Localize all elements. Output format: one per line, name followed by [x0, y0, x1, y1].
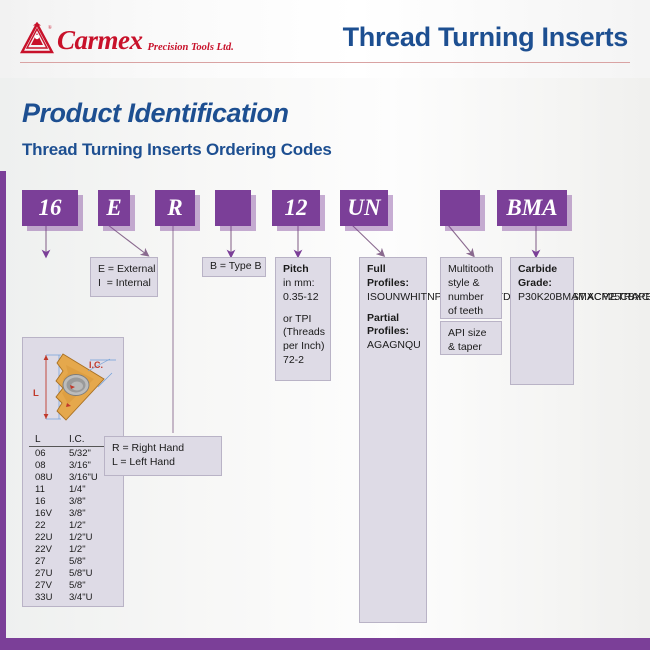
cell-ic: 1/4" — [67, 483, 121, 495]
dimension-label-ic: I.C. — [89, 360, 103, 370]
callout-insert-type: B = Type B — [202, 257, 266, 277]
page-header: ® Carmex Precision Tools Ltd. Thread Tur… — [0, 0, 650, 78]
left-hand-line: L = Left Hand — [112, 456, 214, 470]
code-box-label: R — [167, 195, 182, 221]
external-line: E = External — [98, 263, 150, 277]
cell-ic: 1/2"U — [67, 531, 121, 543]
carbide-grade-item: BXC — [628, 291, 650, 303]
code-box-label: E — [106, 195, 121, 221]
bottom-accent-bar — [0, 638, 650, 650]
cell-l: 08 — [29, 459, 67, 471]
cell-ic: 5/8" — [67, 579, 121, 591]
code-box-label: 12 — [285, 195, 308, 221]
cell-l: 33U — [29, 591, 67, 603]
cell-l: 22V — [29, 543, 67, 555]
carbide-grade-list: P30K20BMAMXCP25CBXCBLUHBA — [518, 291, 566, 305]
pitch-title: Pitch — [283, 263, 323, 277]
spacer — [367, 305, 419, 312]
code-box-4[interactable] — [215, 190, 251, 226]
content-panel: Product Identification Thread Turning In… — [0, 78, 650, 638]
carmex-triangle-logo-icon: ® — [20, 22, 54, 56]
partial-profile-item: G — [374, 339, 382, 351]
cell-ic: 5/8"U — [67, 567, 121, 579]
code-box-6[interactable]: UN — [340, 190, 388, 226]
multitooth-line-1: Multitooth — [448, 263, 494, 277]
table-row: 16V3/8" — [29, 507, 121, 519]
page-title: Thread Turning Inserts — [343, 22, 628, 53]
full-profiles-head-2: Profiles: — [367, 277, 409, 289]
cell-l: 16V — [29, 507, 67, 519]
cell-ic: 5/8" — [67, 555, 121, 567]
callout-multitooth: Multitooth style & number of teeth — [440, 257, 502, 319]
callout-hand-orientation: E = External I = Internal — [90, 257, 158, 297]
partial-profile-item: U — [413, 339, 421, 351]
full-profile-item: UN — [385, 291, 400, 303]
right-hand-line: R = Right Hand — [112, 442, 214, 456]
code-box-2[interactable]: E — [98, 190, 130, 226]
cell-l: 27 — [29, 555, 67, 567]
pitch-mm-label: in mm: — [283, 277, 323, 291]
table-row: 22U1/2"U — [29, 531, 121, 543]
table-row: 27U5/8"U — [29, 567, 121, 579]
partial-profiles-head-2: Profiles: — [367, 325, 409, 337]
full-profile-item: WHIT — [400, 291, 427, 303]
spacer — [283, 305, 323, 313]
cell-l: 27U — [29, 567, 67, 579]
cell-l: 08U — [29, 471, 67, 483]
table-row: 221/2" — [29, 519, 121, 531]
cell-l: 11 — [29, 483, 67, 495]
code-box-label: UN — [347, 195, 380, 221]
partial-profile-item: N — [397, 339, 405, 351]
pitch-tpi-label: or TPI — [283, 313, 323, 327]
carbide-head-1: Carbide — [518, 263, 557, 275]
callout-api: API size & taper — [440, 321, 502, 355]
code-box-3[interactable]: R — [155, 190, 195, 226]
api-line-1: API size — [448, 327, 494, 341]
brand-tagline: Precision Tools Ltd. — [148, 42, 234, 53]
carbide-head-2: Grade: — [518, 277, 552, 289]
full-profiles-head-1: Full — [367, 263, 386, 275]
callout-pitch: Pitch in mm: 0.35-12 or TPI (Threads per… — [275, 257, 331, 381]
callout-profiles: Full Profiles: ISOUNWHITNPTNPTFBSPTDIN 4… — [359, 257, 427, 623]
code-box-label: 16 — [39, 195, 62, 221]
full-profile-item: ISO — [367, 291, 385, 303]
pitch-tpi-range: 72-2 — [283, 354, 323, 368]
partial-profiles-list: AGAGNQU — [367, 339, 419, 353]
partial-profile-item: A — [367, 339, 374, 351]
table-row: 27V5/8" — [29, 579, 121, 591]
dimension-label-l: L — [33, 388, 39, 399]
table-row: 22V1/2" — [29, 543, 121, 555]
header-divider — [20, 62, 630, 63]
carbide-grade-item: BMA — [555, 291, 578, 303]
callout-hand-direction: R = Right Hand L = Left Hand — [104, 436, 222, 476]
left-accent-bar — [0, 171, 6, 638]
brand-logo: ® Carmex Precision Tools Ltd. — [20, 22, 234, 56]
cell-l: 16 — [29, 495, 67, 507]
table-row: 33U3/4"U — [29, 591, 121, 603]
cell-l: 27V — [29, 579, 67, 591]
cell-ic: 3/8" — [67, 495, 121, 507]
partial-profile-item: Q — [405, 339, 413, 351]
internal-line: I = Internal — [98, 277, 150, 291]
code-box-label: BMA — [506, 195, 557, 221]
section-subtitle: Thread Turning Inserts Ordering Codes — [22, 140, 332, 160]
code-box-7[interactable] — [440, 190, 480, 226]
code-box-8[interactable]: BMA — [497, 190, 567, 226]
pitch-mm-range: 0.35-12 — [283, 291, 323, 305]
table-row: 275/8" — [29, 555, 121, 567]
carbide-grade-item: K20 — [537, 291, 556, 303]
multitooth-line-3: number — [448, 291, 494, 305]
api-line-2: & taper — [448, 341, 494, 355]
table-row: 163/8" — [29, 495, 121, 507]
partial-profiles-head-1: Partial — [367, 312, 399, 324]
partial-profile-item: AG — [382, 339, 397, 351]
pitch-tpi-note1: (Threads — [283, 326, 323, 340]
cell-ic: 3/8" — [67, 507, 121, 519]
carbide-grade-item: P30 — [518, 291, 537, 303]
section-title: Product Identification — [22, 98, 289, 129]
cell-ic: 1/2" — [67, 519, 121, 531]
code-box-1[interactable]: 16 — [22, 190, 78, 226]
cell-l: 22 — [29, 519, 67, 531]
cell-l: 22U — [29, 531, 67, 543]
code-box-5[interactable]: 12 — [272, 190, 320, 226]
multitooth-line-4: of teeth — [448, 305, 494, 319]
carbide-grade-item: P25C — [601, 291, 627, 303]
insert-drawing-icon — [26, 341, 122, 438]
cell-ic: 1/2" — [67, 543, 121, 555]
type-b-line: B = Type B — [210, 260, 261, 274]
callout-carbide-grade: Carbide Grade: P30K20BMAMXCP25CBXCBLUHBA — [510, 257, 574, 385]
column-header-l: L — [29, 434, 67, 447]
brand-wordmark: Carmex — [57, 27, 143, 54]
carbide-grade-item: MXC — [578, 291, 601, 303]
multitooth-line-2: style & — [448, 277, 494, 291]
full-profiles-list: ISOUNWHITNPTNPTFBSPTDIN 477ACMEST.ACMETR… — [367, 291, 419, 305]
cell-ic: 3/4"U — [67, 591, 121, 603]
table-row: 111/4" — [29, 483, 121, 495]
svg-text:®: ® — [48, 25, 52, 31]
cell-l: 06 — [29, 447, 67, 460]
pitch-tpi-note2: per Inch) — [283, 340, 323, 354]
